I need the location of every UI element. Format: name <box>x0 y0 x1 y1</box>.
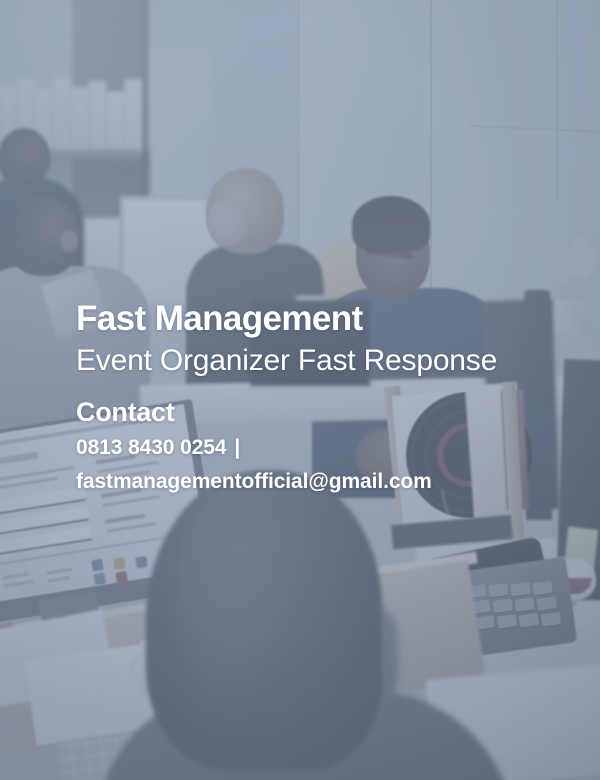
phone-number[interactable]: 0813 8430 0254 <box>76 436 226 459</box>
poster-canvas: Fast Management Event Organizer Fast Res… <box>0 0 600 780</box>
page-title: Fast Management <box>76 300 546 337</box>
contact-heading: Contact <box>76 397 546 428</box>
text-content-block: Fast Management Event Organizer Fast Res… <box>76 300 546 495</box>
page-subtitle: Event Organizer Fast Response <box>76 343 546 378</box>
contact-email[interactable]: fastmanagementofficial@gmail.com <box>76 468 546 495</box>
contact-separator: | <box>226 434 242 461</box>
contact-phone-line: 0813 8430 0254| <box>76 434 546 461</box>
